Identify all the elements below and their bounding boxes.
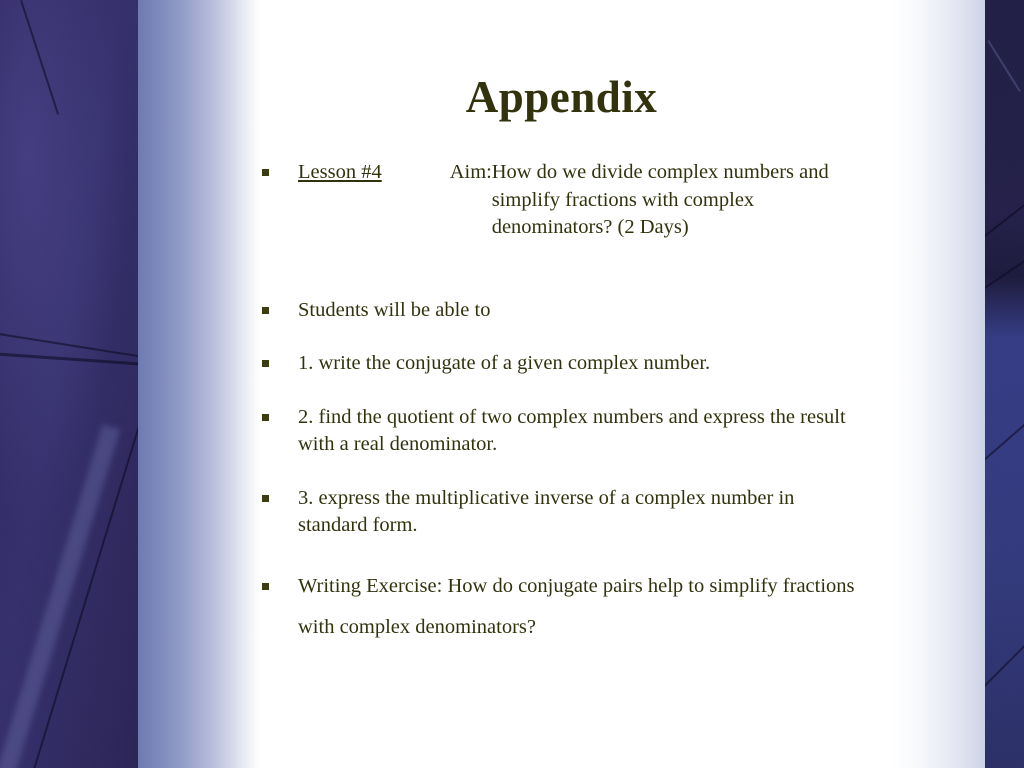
spacer-4	[262, 459, 962, 485]
list-item-objective-2: 2. find the quotient of two complex numb…	[262, 404, 962, 459]
slide-content: Appendix Lesson #4Aim:How do we divide c…	[138, 0, 985, 768]
aim-label: Aim:	[450, 159, 492, 187]
right-decorative-band	[985, 0, 1024, 768]
lesson-label: Lesson #4	[298, 161, 382, 183]
aim-line-1: How do we divide complex numbers and	[492, 161, 829, 183]
objective-2-line-2: with a real denominator.	[298, 431, 962, 459]
list-item-writing-exercise: Writing Exercise: How do conjugate pairs…	[262, 566, 962, 648]
list-item-objective-1: 1. write the conjugate of a given comple…	[262, 350, 962, 378]
square-bullet-icon	[262, 495, 269, 502]
spacer-1	[262, 242, 962, 297]
left-band-grain	[0, 0, 138, 768]
objective-3-line-1: 3. express the multiplicative inverse of…	[298, 485, 962, 513]
spacer-5	[262, 540, 962, 566]
square-bullet-icon	[262, 307, 269, 314]
list-item-objective-3: 3. express the multiplicative inverse of…	[262, 485, 962, 540]
bullet-list: Lesson #4Aim:How do we divide complex nu…	[262, 159, 962, 648]
writing-exercise-line-1: Writing Exercise: How do conjugate pairs…	[298, 566, 962, 607]
list-item-objectives-intro: Students will be able to	[262, 297, 962, 325]
square-bullet-icon	[262, 169, 269, 176]
lesson-line: Lesson #4Aim:How do we divide complex nu…	[298, 159, 962, 242]
objectives-intro-text: Students will be able to	[298, 297, 962, 325]
aim-line-3: denominators? (2 Days)	[492, 214, 870, 242]
writing-exercise-line-2: with complex denominators?	[298, 607, 962, 648]
spacer-3	[262, 378, 962, 404]
square-bullet-icon	[262, 360, 269, 367]
square-bullet-icon	[262, 583, 269, 590]
aim-block: Aim:How do we divide complex numbers and…	[450, 159, 870, 242]
square-bullet-icon	[262, 414, 269, 421]
slide-canvas: Appendix Lesson #4Aim:How do we divide c…	[0, 0, 1024, 768]
spacer-2	[262, 324, 962, 350]
left-decorative-band	[0, 0, 138, 768]
aim-line-2: simplify fractions with complex	[492, 187, 870, 215]
objective-1-text: 1. write the conjugate of a given comple…	[298, 350, 962, 378]
objective-2-line-1: 2. find the quotient of two complex numb…	[298, 404, 962, 432]
page-title: Appendix	[138, 74, 985, 121]
list-item-lesson: Lesson #4Aim:How do we divide complex nu…	[262, 159, 962, 242]
objective-3-line-2: standard form.	[298, 512, 962, 540]
right-band-grain	[985, 0, 1024, 768]
